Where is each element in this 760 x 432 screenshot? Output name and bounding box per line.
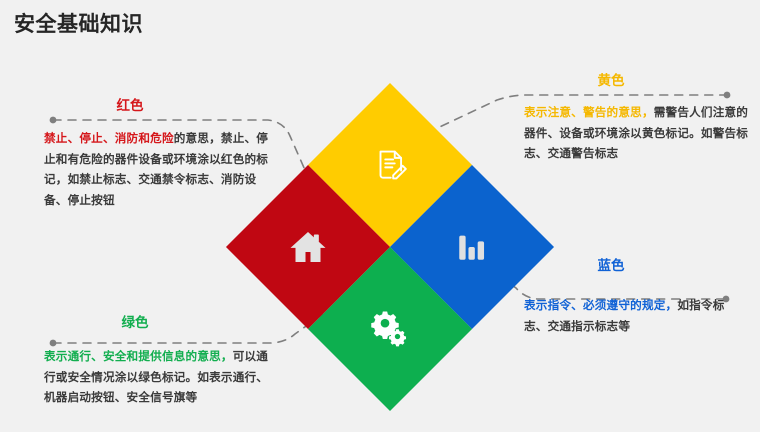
slide-canvas: 安全基础知识 — [0, 0, 760, 432]
page-title: 安全基础知识 — [14, 8, 143, 38]
gears-icon — [362, 301, 418, 357]
body-blue-highlight: 表示指令、必须遵守的规定， — [524, 299, 677, 312]
heading-red: 红色 — [44, 98, 276, 114]
bar-chart-icon — [444, 219, 500, 275]
heading-blue: 蓝色 — [524, 258, 746, 274]
text-block-red: 红色 禁止、停止、消防和危险的意思，禁止、停止和有危险的器件设备或环境涂以红色的… — [44, 98, 276, 212]
text-block-yellow: 黄色 表示注意、警告的意思，需警告人们注意的器件、设备或环境涂以黄色标记。如警告… — [524, 73, 750, 165]
body-red-highlight: 禁止、停止、消防和危险 — [44, 132, 174, 145]
text-block-green: 绿色 表示通行、安全和提供信息的意思，可以通行或安全情况涂以绿色标记。如表示通行… — [44, 315, 278, 409]
body-green-highlight: 表示通行、安全和提供信息的意思， — [44, 350, 233, 363]
body-yellow: 表示注意、警告的意思，需警告人们注意的器件、设备或环境涂以黄色标记。如警告标志、… — [524, 103, 750, 165]
heading-green: 绿色 — [44, 315, 278, 331]
body-blue: 表示指令、必须遵守的规定，如指令标志、交通指示标志等 — [524, 296, 746, 337]
text-block-blue: 蓝色 表示指令、必须遵守的规定，如指令标志、交通指示标志等 — [524, 258, 746, 337]
home-icon — [280, 219, 336, 275]
body-red: 禁止、停止、消防和危险的意思，禁止、停止和有危险的器件设备或环境涂以红色的标记，… — [44, 129, 276, 212]
body-yellow-highlight: 表示注意、警告的意思， — [524, 106, 654, 119]
body-green: 表示通行、安全和提供信息的意思，可以通行或安全情况涂以绿色标记。如表示通行、机器… — [44, 347, 278, 409]
heading-yellow: 黄色 — [524, 73, 750, 89]
document-pencil-icon — [362, 137, 418, 193]
